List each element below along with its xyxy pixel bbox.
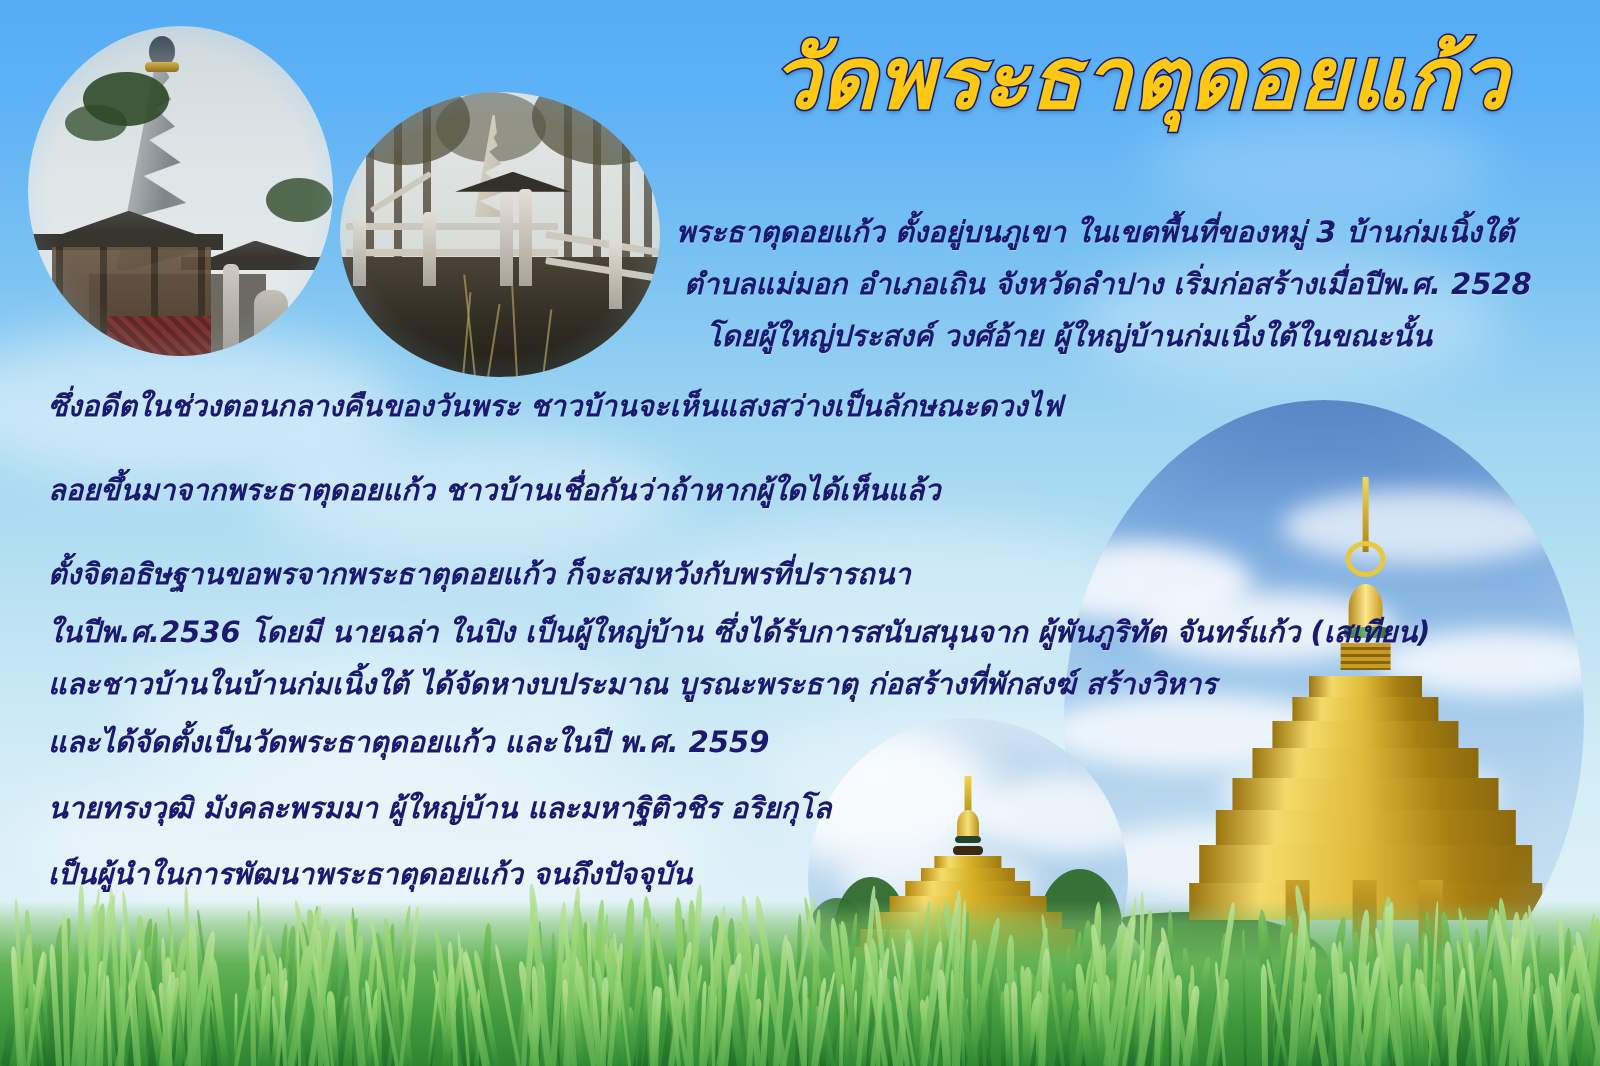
grass-blade [1022, 967, 1032, 1066]
balustrade-block [254, 290, 288, 356]
grass-foreground [0, 901, 1600, 1066]
paragraph-top: พระธาตุดอยแก้ว ตั้งอยู่บนภูเขา ในเขตพื้น… [676, 206, 1532, 362]
balustrade-post [223, 264, 239, 356]
grass-blade [1011, 981, 1019, 1066]
poster-canvas: วัดพระธาตุดอยแก้ว พระธาตุดอยแก้ว ตั้งอยู… [0, 0, 1600, 1066]
grass-blade [494, 943, 521, 1066]
paragraph-low: ในปีพ.ศ.2536 โดยมี นายฉล่า ในปิง เป็นผู้… [48, 606, 1430, 710]
chedi-dark-band [953, 846, 983, 855]
paragraph-mid: ซึ่งอดีตในช่วงตอนกลางคืนของวันพระ ชาวบ้า… [48, 380, 1063, 632]
text-line: และชาวบ้านในบ้านก่มเนิ้งใต้ ได้จัดหางบปร… [48, 658, 1430, 710]
text-line: และได้จัดตั้งเป็นวัดพระธาตุดอยแก้ว และใน… [48, 716, 831, 782]
photo-forest-stupa [340, 92, 660, 377]
chedi-bell [957, 810, 979, 839]
page-title: วัดพระธาตุดอยแก้ว [760, 34, 1520, 124]
photo-stone-stupa [28, 26, 333, 356]
text-line: ลอยขึ้นมาจากพระธาตุดอยแก้ว ชาวบ้านเชื่อก… [48, 464, 1063, 548]
paragraph-end: และได้จัดตั้งเป็นวัดพระธาตุดอยแก้ว และใน… [48, 716, 831, 914]
text-line: ในปีพ.ศ.2536 โดยมี นายฉล่า ในปิง เป็นผู้… [48, 606, 1430, 658]
text-line: นายทรงวุฒิ มังคละพรมมา ผู้ใหญ่บ้าน และมห… [48, 782, 831, 848]
chedi-green-band [955, 836, 981, 843]
chedi-hoop-ornament [1346, 541, 1386, 577]
text-line: พระธาตุดอยแก้ว ตั้งอยู่บนภูเขา ในเขตพื้น… [676, 206, 1532, 258]
tree-foliage [266, 178, 332, 222]
tree-foliage [65, 105, 127, 141]
text-line: ตำบลแม่มอก อำเภอเถิน จังหวัดลำปาง เริ่มก… [676, 258, 1532, 310]
red-patterned-panel [107, 316, 211, 356]
grass-blade [1242, 929, 1248, 1066]
stupa-gold-band [145, 62, 179, 72]
text-line: โดยผู้ใหญ่ประสงค์ วงศ์อ้าย ผู้ใหญ่บ้านก่… [676, 310, 1532, 362]
text-line: ซึ่งอดีตในช่วงตอนกลางคืนของวันพระ ชาวบ้า… [48, 380, 1063, 464]
